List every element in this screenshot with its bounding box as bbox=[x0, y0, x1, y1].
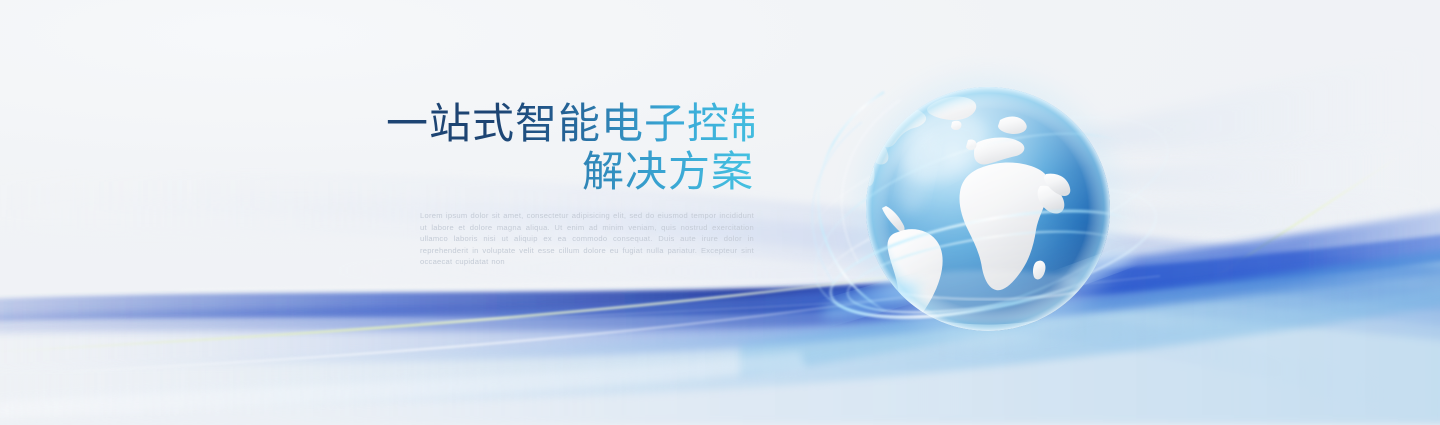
hero-copy: 一站式智能电子控制 解决方案 Lorem ipsum dolor sit ame… bbox=[386, 100, 754, 268]
headline-line-1: 一站式智能电子控制 bbox=[386, 100, 754, 148]
page-title: 一站式智能电子控制 解决方案 bbox=[386, 100, 754, 196]
hero-banner: 一站式智能电子控制 解决方案 Lorem ipsum dolor sit ame… bbox=[0, 0, 1440, 425]
headline-line-2: 解决方案 bbox=[386, 148, 754, 196]
hero-description: Lorem ipsum dolor sit amet, consectetur … bbox=[420, 210, 754, 268]
